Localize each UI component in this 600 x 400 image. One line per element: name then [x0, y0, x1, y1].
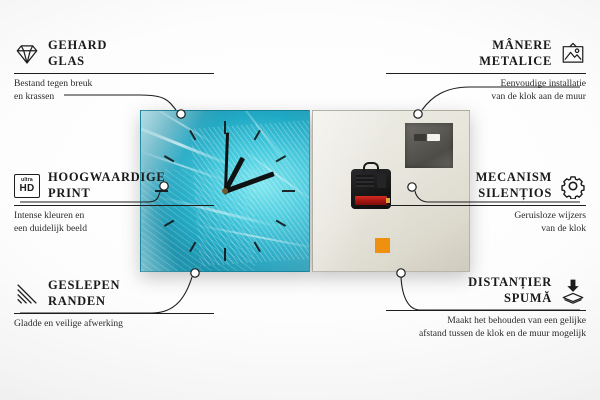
- feature-divider: [386, 73, 586, 74]
- feature-header: Mânere metalice: [386, 38, 586, 69]
- ultra-hd-large-text: HD: [19, 184, 34, 194]
- feature-description: Eenvoudige installatie van de klok aan d…: [386, 77, 586, 103]
- feature-title: Hoogwaardige print: [48, 170, 165, 201]
- infographic-canvas: Gehard glas Bestand tegen breuk en krass…: [0, 0, 600, 400]
- feature-title: Mânere metalice: [479, 38, 552, 69]
- clock-tick: [254, 130, 261, 141]
- clock-mechanism-box: [351, 169, 391, 209]
- diamond-icon: [14, 41, 40, 67]
- clock-tick: [189, 130, 196, 141]
- aa-battery: [355, 196, 387, 205]
- ultra-hd-small-text: ultra: [21, 178, 33, 183]
- feature-description: Geruisloze wijzers van de klok: [386, 209, 586, 235]
- clock-tick: [276, 155, 287, 162]
- feature-divider: [386, 310, 586, 311]
- feature-title: Geslepen randen: [48, 278, 120, 309]
- beveled-edge-icon: [14, 281, 40, 307]
- ultra-hd-icon: ultra HD: [14, 174, 40, 198]
- feature-title: Distanțier spumă: [468, 275, 552, 306]
- feature-geslepen-randen: Geslepen randen Gladde en veilige afwerk…: [14, 278, 214, 330]
- mechanism-vents: [356, 175, 374, 187]
- feature-mecanism-silentios: Mecanism silențios Geruisloze wijzers va…: [386, 170, 586, 236]
- feature-header: Distanțier spumă: [386, 275, 586, 306]
- orange-foam-spacer: [375, 238, 390, 253]
- clock-tick: [282, 190, 295, 192]
- feature-title: Mecanism silențios: [476, 170, 552, 201]
- feature-header: Geslepen randen: [14, 278, 214, 309]
- feature-gehard-glas: Gehard glas Bestand tegen breuk en krass…: [14, 38, 214, 104]
- hanger-loop-icon: [363, 162, 379, 172]
- hanger-slot: [414, 134, 440, 141]
- feature-divider: [386, 205, 586, 206]
- clock-hub: [222, 188, 228, 194]
- clock-tick: [224, 248, 226, 261]
- mechanism-dial: [377, 174, 386, 188]
- feature-hoogwaardige-print: ultra HD Hoogwaardige print Intense kleu…: [14, 170, 214, 236]
- gear-icon: [560, 173, 586, 199]
- feature-header: Gehard glas: [14, 38, 214, 69]
- feature-header: ultra HD Hoogwaardige print: [14, 170, 214, 201]
- feature-divider: [14, 313, 214, 314]
- feature-divider: [14, 73, 214, 74]
- feature-distantier-spuma: Distanțier spumă Maakt het behouden van …: [386, 275, 586, 341]
- feature-divider: [14, 205, 214, 206]
- press-down-pad-icon: [560, 278, 586, 304]
- picture-frame-icon: [560, 41, 586, 67]
- clock-tick: [254, 242, 261, 253]
- feature-header: Mecanism silențios: [386, 170, 586, 201]
- clock-tick: [276, 220, 287, 227]
- clock-tick: [164, 155, 175, 162]
- feature-description: Intense kleuren en een duidelijk beeld: [14, 209, 214, 235]
- feature-description: Bestand tegen breuk en krassen: [14, 77, 214, 103]
- feature-title: Gehard glas: [48, 38, 107, 69]
- metal-hanger-plate: [405, 123, 453, 168]
- feature-manere-metalice: Mânere metalice Eenvoudige installatie v…: [386, 38, 586, 104]
- feature-description: Maakt het behouden van een gelijke afsta…: [386, 314, 586, 340]
- feature-description: Gladde en veilige afwerking: [14, 317, 214, 330]
- clock-tick: [189, 242, 196, 253]
